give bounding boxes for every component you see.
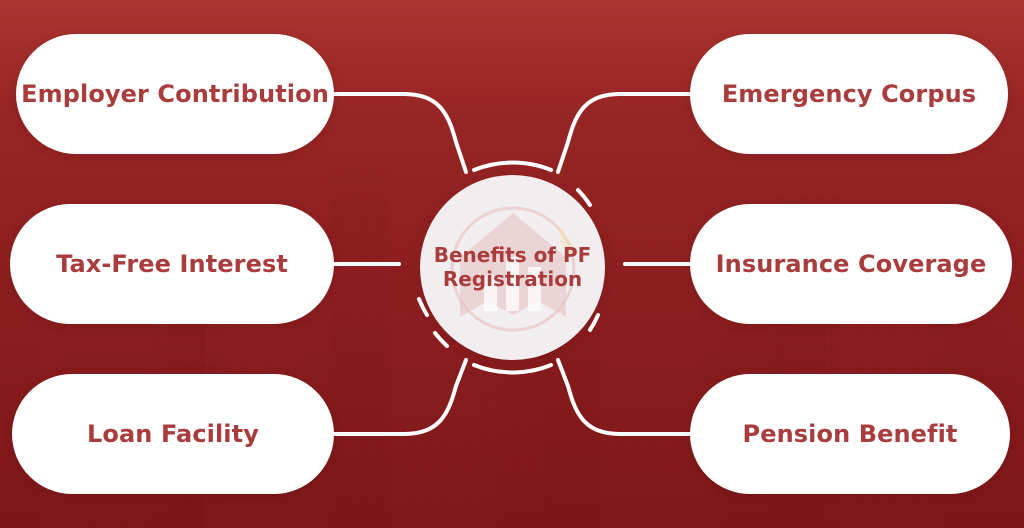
- node-label-emergency-corpus: Emergency Corpus: [722, 80, 976, 108]
- infographic-canvas: Benefits of PF Registration Employer Con…: [0, 0, 1024, 528]
- center-hub-title: Benefits of PF Registration: [433, 244, 593, 291]
- node-label-tax-free-interest: Tax-Free Interest: [56, 250, 288, 278]
- node-emergency-corpus[interactable]: Emergency Corpus: [690, 34, 1008, 154]
- center-hub-title-line1: Benefits of PF: [434, 243, 592, 267]
- node-label-loan-facility: Loan Facility: [87, 420, 259, 448]
- node-employer-contribution[interactable]: Employer Contribution: [16, 34, 334, 154]
- node-label-insurance-coverage: Insurance Coverage: [716, 250, 987, 278]
- node-loan-facility[interactable]: Loan Facility: [12, 374, 334, 494]
- node-insurance-coverage[interactable]: Insurance Coverage: [690, 204, 1012, 324]
- node-pension-benefit[interactable]: Pension Benefit: [690, 374, 1010, 494]
- node-label-pension-benefit: Pension Benefit: [743, 420, 958, 448]
- center-hub-title-line2: Registration: [443, 267, 582, 291]
- center-hub: Benefits of PF Registration: [420, 175, 605, 360]
- node-tax-free-interest[interactable]: Tax-Free Interest: [10, 204, 334, 324]
- node-label-employer-contribution: Employer Contribution: [21, 80, 329, 108]
